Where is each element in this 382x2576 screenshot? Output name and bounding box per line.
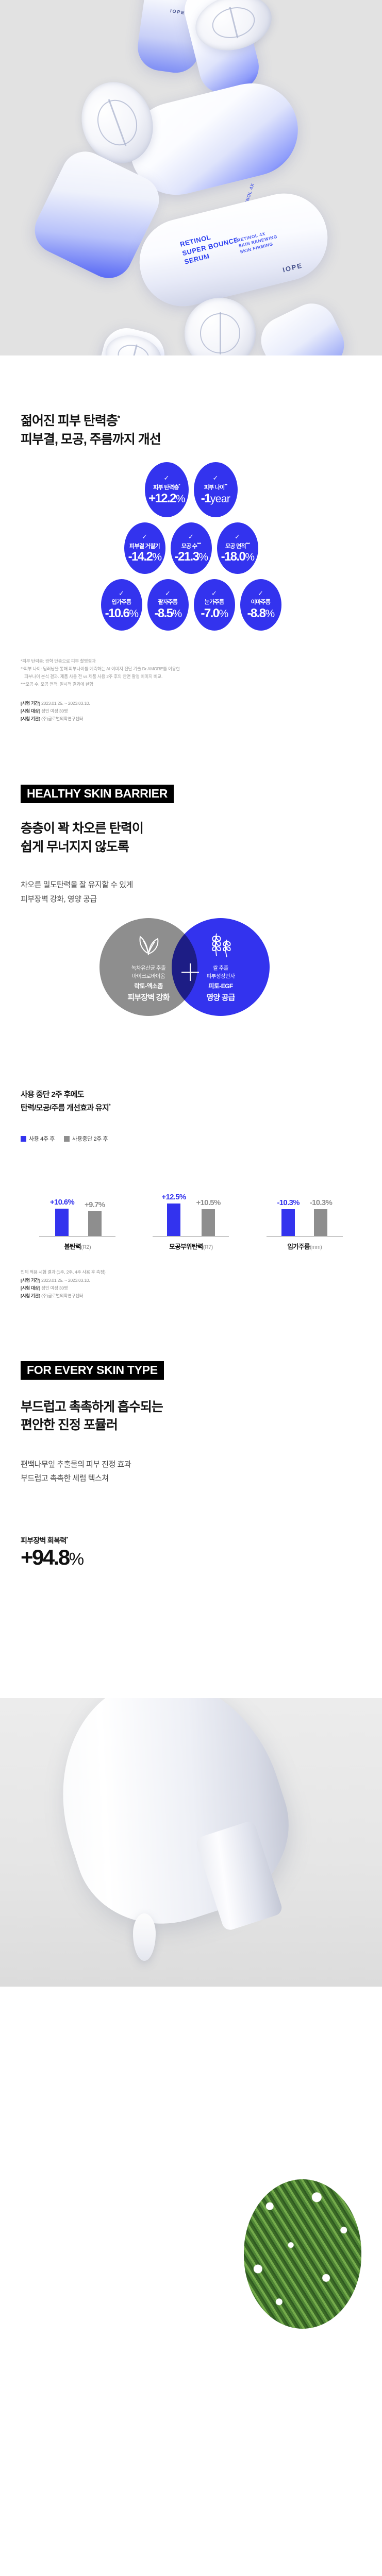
footnote-line: 피부나이 분석 결과. 제품 사용 전 vs 제품 사용 2주 후의 안면 촬영… bbox=[21, 673, 361, 681]
bar-item: +12.5% bbox=[161, 1159, 186, 1236]
bottle-bottom-right bbox=[253, 296, 352, 355]
stat-badge-label-text: 피부결 거칠기 bbox=[129, 543, 160, 549]
chart-headline-line1: 사용 중단 2주 후에도 bbox=[21, 1088, 361, 1101]
stat-badge: ✓ 피부 나이** -1year bbox=[194, 462, 238, 517]
hero-bottle-composition: IOPE RETINOL 4X RETINOL SUPER BOUNCE SER… bbox=[0, 0, 382, 355]
stat-badge-number: +12.2 bbox=[148, 492, 176, 505]
section-barrier: HEALTHY SKIN BARRIER 층층이 꽉 차오른 탄력이 쉽게 무너… bbox=[0, 785, 382, 907]
skintype-headline: 부드럽고 촉촉하게 흡수되는 편안한 진정 포뮬러 bbox=[21, 1398, 361, 1435]
check-icon: ✓ bbox=[211, 590, 217, 597]
stat-badge-value: -7.0% bbox=[201, 607, 227, 620]
stat-badge-label: 모공 면적*** bbox=[225, 543, 250, 550]
stat-badge-label: 팔자주름 bbox=[158, 599, 178, 605]
footnote-line: *피부 탄력층: 광학 단층으로 피부 촬영결과 bbox=[21, 657, 361, 665]
study-key: [시험 기관] bbox=[21, 716, 40, 721]
check-icon: ✓ bbox=[188, 533, 194, 540]
stat-badge-unit: % bbox=[129, 608, 138, 620]
skintype-section-tag: FOR EVERY SKIN TYPE bbox=[21, 1361, 164, 1380]
bar-rect bbox=[281, 1209, 295, 1236]
ingredient-venn-diagram: 녹차유산균 추출 마이크로바이옴 락토-엑소좀 피부장벽 강화 쌀 추출 bbox=[0, 918, 382, 1052]
stat-badge-unit: % bbox=[172, 608, 181, 620]
stat-badge-row-1: ✓ 피부 탄력층* +12.2% ✓ 피부 나이** -1year bbox=[0, 462, 382, 517]
elasticity-headline-line1: 젊어진 피부 탄력층 bbox=[21, 414, 118, 428]
skintype-subtext-line2: 부드럽고 촉촉한 세럼 텍스쳐 bbox=[21, 1471, 361, 1486]
stat-badge: ✓ 이마주름 -8.8% bbox=[240, 579, 281, 631]
chart-x-label: 모공부위탄력(R7) bbox=[169, 1241, 212, 1251]
stat-badge-row-3: ✓ 입가주름 -10.6% ✓ 팔자주름 -8.5% ✓ 눈가주름 -7.0% … bbox=[0, 579, 382, 631]
study-row: [시험 대상] 성인 여성 30명 bbox=[21, 707, 361, 715]
venn-circle-right: 쌀 추출 피부성장인자 피토-EGF 영양 공급 bbox=[172, 918, 270, 1016]
chart-legend: 사용 4주 후 사용중단 2주 후 bbox=[21, 1134, 361, 1143]
study-value: 성인 여성 30명 bbox=[41, 1285, 68, 1291]
skintype-subtext: 편백나무잎 추출물의 피부 진정 효과 부드럽고 촉촉한 세럼 텍스쳐 bbox=[21, 1458, 361, 1486]
stat-badge-unit: % bbox=[198, 551, 207, 563]
chart-axis-line bbox=[267, 1236, 343, 1236]
stat-badge-row-2: ✓ 피부결 거칠기 -14.2% ✓ 모공 수*** -21.3% ✓ 모공 면… bbox=[0, 522, 382, 574]
chart-group-bars: +10.6% +9.7% bbox=[50, 1159, 105, 1236]
study-row: [시험 기간] 2023.01.25. ~ 2023.03.10. bbox=[21, 1277, 361, 1284]
stat-badge-label-text: 피부 나이 bbox=[204, 485, 225, 491]
chart-section: 사용 중단 2주 후에도 탄력/모공/주름 개선효과 유지* 사용 4주 후 사… bbox=[0, 1088, 382, 1251]
study-key: [시험 기간] bbox=[21, 701, 40, 706]
check-icon: ✓ bbox=[235, 533, 240, 540]
elasticity-footnotes: *피부 탄력층: 광학 단층으로 피부 촬영결과 **피부 나이: 딥러닝을 통… bbox=[0, 657, 382, 688]
stat-badge-number: -8.5 bbox=[154, 606, 172, 620]
barrier-subtext-line2: 피부장벽 강화, 영양 공급 bbox=[21, 892, 361, 907]
stat-badge-label-sup: *** bbox=[197, 542, 201, 547]
stat-badge-value: -18.0% bbox=[221, 551, 254, 563]
stat-badge-unit: % bbox=[176, 493, 185, 505]
chart-group-bars: +12.5% +10.5% bbox=[161, 1159, 220, 1236]
stat-badge: ✓ 입가주름 -10.6% bbox=[101, 579, 142, 631]
bar-item: -10.3% bbox=[277, 1159, 299, 1236]
stat-badge-label: 피부 탄력층* bbox=[153, 484, 180, 491]
wheat-icon bbox=[204, 931, 237, 958]
stat-badge-label: 모공 수*** bbox=[181, 543, 201, 550]
stat-badge-group: ✓ 피부 탄력층* +12.2% ✓ 피부 나이** -1year ✓ 피부결 … bbox=[0, 449, 382, 631]
study-key: [시험 대상] bbox=[21, 708, 40, 714]
venn-right-category: 피부성장인자 bbox=[207, 973, 235, 981]
stat-badge: ✓ 모공 면적*** -18.0% bbox=[217, 522, 258, 574]
legend-swatch-series-2 bbox=[64, 1136, 70, 1142]
stat-badge-label: 눈가주름 bbox=[205, 599, 224, 605]
chart-axis-line bbox=[153, 1236, 229, 1236]
barrier-recovery-unit: % bbox=[69, 1549, 83, 1568]
product-detail-page: IOPE RETINOL 4X RETINOL SUPER BOUNCE SER… bbox=[0, 0, 382, 1987]
bar-item: +9.7% bbox=[85, 1159, 105, 1236]
stat-badge-number: -1 bbox=[201, 492, 210, 505]
venn-right-name: 피토-EGF bbox=[208, 981, 232, 990]
stat-badge-value: -14.2% bbox=[128, 551, 161, 563]
elasticity-headline-line2: 피부결, 모공, 주름까지 개선 bbox=[21, 432, 161, 447]
serum-texture-photo bbox=[0, 1698, 382, 1987]
study-row: [시험 기관] (주)글로벌의학연구센터 bbox=[21, 715, 361, 723]
stat-badge-label-text: 모공 면적 bbox=[225, 543, 246, 549]
barrier-recovery-label-text: 피부장벽 회복력 bbox=[21, 1536, 66, 1545]
venn-right-benefit: 영양 공급 bbox=[206, 992, 235, 1003]
stat-badge-value: -8.8% bbox=[247, 607, 274, 620]
serum-drop bbox=[133, 1913, 156, 1961]
bar-rect bbox=[202, 1209, 215, 1236]
stat-badge-number: -18.0 bbox=[221, 550, 245, 564]
skintype-headline-line1: 부드럽고 촉촉하게 흡수되는 bbox=[21, 1400, 163, 1414]
study-row: [시험 대상] 성인 여성 30명 bbox=[21, 1284, 361, 1292]
check-icon: ✓ bbox=[164, 474, 170, 481]
venn-left-benefit: 피부장벽 강화 bbox=[127, 992, 169, 1003]
venn-left-category: 마이크로바이옴 bbox=[132, 973, 165, 981]
stat-badge-unit: year bbox=[210, 493, 230, 505]
chart-x-label-unit: (R2) bbox=[81, 1244, 91, 1250]
check-icon: ✓ bbox=[142, 533, 147, 540]
stat-badge-value: +12.2% bbox=[148, 493, 185, 505]
check-icon: ✓ bbox=[119, 590, 124, 597]
stat-badge-unit: % bbox=[219, 608, 227, 620]
study-row: [시험 기간] 2023.01.25. ~ 2023.03.10. bbox=[21, 700, 361, 707]
stat-badge-label-sup: ** bbox=[225, 483, 227, 488]
barrier-recovery-value: +94.8% bbox=[21, 1546, 361, 1569]
bar-rect bbox=[167, 1204, 180, 1236]
chart-x-label-name: 볼탄력 bbox=[64, 1243, 81, 1250]
chart-x-label-unit: (mm) bbox=[310, 1244, 322, 1250]
bar-rect bbox=[55, 1209, 69, 1236]
stat-badge: ✓ 피부결 거칠기 -14.2% bbox=[124, 522, 165, 574]
study-value: 성인 여성 30명 bbox=[41, 708, 68, 714]
study-key: [시험 기관] bbox=[21, 1293, 40, 1298]
elasticity-headline-asterisk: * bbox=[118, 414, 120, 422]
bar-value-label: -10.3% bbox=[310, 1198, 332, 1207]
study-row: [시험 기관] (주)글로벌의학연구센터 bbox=[21, 1292, 361, 1300]
legend-swatch-series-1 bbox=[21, 1136, 26, 1142]
bar-value-label: -10.3% bbox=[277, 1198, 299, 1207]
barrier-headline: 층층이 꽉 차오른 탄력이 쉽게 무너지지 않도록 bbox=[21, 820, 361, 856]
check-icon: ✓ bbox=[213, 474, 219, 481]
skintype-subtext-line1: 편백나무잎 추출물의 피부 진정 효과 bbox=[21, 1458, 361, 1472]
study-value: 2023.01.25. ~ 2023.03.10. bbox=[41, 701, 90, 706]
barrier-headline-line1: 층층이 꽉 차오른 탄력이 bbox=[21, 821, 143, 836]
stat-badge-value: -8.5% bbox=[154, 607, 181, 620]
barrier-recovery-number: +94.8 bbox=[21, 1545, 69, 1569]
bar-value-label: +10.5% bbox=[196, 1198, 220, 1207]
stat-badge: ✓ 눈가주름 -7.0% bbox=[194, 579, 235, 631]
leaf-icon bbox=[132, 931, 165, 958]
venn-left-source: 녹차유산균 추출 bbox=[131, 964, 166, 973]
stat-badge-value: -1year bbox=[201, 493, 230, 505]
study-key: [시험 대상] bbox=[21, 1285, 40, 1291]
footnote-line: ***모공 수, 모공 면적: 일시적 결과에 한함 bbox=[21, 681, 361, 688]
elasticity-study-info: [시험 기간] 2023.01.25. ~ 2023.03.10. [시험 대상… bbox=[0, 700, 382, 723]
barrier-recovery-label-sup: * bbox=[66, 1536, 68, 1541]
stat-badge-number: -7.0 bbox=[201, 606, 219, 620]
stat-badge-number: -21.3 bbox=[175, 550, 199, 564]
stat-badge-number: -8.8 bbox=[247, 606, 265, 620]
stat-badge-value: -10.6% bbox=[105, 607, 138, 620]
stat-badge-label: 이마주름 bbox=[251, 599, 271, 605]
section-elasticity: 젊어진 피부 탄력층* 피부결, 모공, 주름까지 개선 bbox=[0, 412, 382, 449]
chart-x-label-name: 입가주름 bbox=[287, 1243, 310, 1250]
stat-badge-unit: % bbox=[265, 608, 274, 620]
check-icon: ✓ bbox=[165, 590, 171, 597]
stat-badge-number: -10.6 bbox=[105, 606, 129, 620]
chart-headline-line2-wrap: 탄력/모공/주름 개선효과 유지* bbox=[21, 1101, 361, 1115]
venn-right-source: 쌀 추출 bbox=[213, 964, 228, 973]
study-value: 2023.01.25. ~ 2023.03.10. bbox=[41, 1278, 90, 1283]
chart-x-label: 볼탄력(R2) bbox=[64, 1241, 91, 1251]
chart-study-info: 인체 적용 시험 결과 (1주, 2주, 4주 사용 후 측정) [시험 기간]… bbox=[0, 1268, 382, 1300]
section-skintype: FOR EVERY SKIN TYPE 부드럽고 촉촉하게 흡수되는 편안한 진… bbox=[0, 1361, 382, 1570]
stat-badge-label-text: 피부 탄력층 bbox=[153, 485, 178, 491]
barrier-subtext: 차오른 밀도탄력을 잘 유지할 수 있게 피부장벽 강화, 영양 공급 bbox=[21, 878, 361, 907]
check-icon: ✓ bbox=[258, 590, 263, 597]
stat-badge: ✓ 피부 탄력층* +12.2% bbox=[145, 462, 189, 517]
barrier-subtext-line1: 차오른 밀도탄력을 잘 유지할 수 있게 bbox=[21, 878, 361, 892]
stat-badge-unit: % bbox=[152, 551, 161, 563]
bar-value-label: +12.5% bbox=[161, 1193, 186, 1201]
stat-badge: ✓ 팔자주름 -8.5% bbox=[147, 579, 189, 631]
stat-badge-label: 피부결 거칠기 bbox=[129, 543, 160, 550]
legend-label-series-1: 사용 4주 후 bbox=[29, 1134, 55, 1143]
chart-footnote-top: 인체 적용 시험 결과 (1주, 2주, 4주 사용 후 측정) bbox=[21, 1268, 361, 1276]
legend-item: 사용 4주 후 bbox=[21, 1134, 55, 1143]
chart-axis-line bbox=[39, 1236, 115, 1236]
stat-badge-value: -21.3% bbox=[175, 551, 208, 563]
bar-item: +10.5% bbox=[196, 1159, 220, 1236]
legend-label-series-2: 사용중단 2주 후 bbox=[72, 1134, 108, 1143]
bar-value-label: +9.7% bbox=[85, 1200, 105, 1209]
stat-badge-number: -14.2 bbox=[128, 550, 153, 564]
hero-product-image: IOPE RETINOL 4X RETINOL SUPER BOUNCE SER… bbox=[0, 0, 382, 355]
chart-group: +12.5% +10.5% 모공부위탄력(R7) bbox=[134, 1159, 247, 1251]
study-value: (주)글로벌의학연구센터 bbox=[41, 1293, 83, 1298]
bar-rect bbox=[88, 1211, 102, 1236]
barrier-recovery-stat: 피부장벽 회복력* +94.8% bbox=[21, 1535, 361, 1569]
chart-headline: 사용 중단 2주 후에도 탄력/모공/주름 개선효과 유지* bbox=[21, 1088, 361, 1115]
stat-badge: ✓ 모공 수*** -21.3% bbox=[171, 522, 212, 574]
legend-item: 사용중단 2주 후 bbox=[64, 1134, 108, 1143]
bar-chart: +10.6% +9.7% 볼탄력(R2) +12.5% bbox=[21, 1153, 361, 1251]
barrier-recovery-label: 피부장벽 회복력* bbox=[21, 1535, 361, 1546]
chart-headline-line2: 탄력/모공/주름 개선효과 유지 bbox=[21, 1104, 109, 1112]
chart-headline-asterisk: * bbox=[109, 1103, 110, 1108]
cypress-leaf-photo bbox=[244, 2179, 361, 2329]
stat-badge-label: 입가주름 bbox=[112, 599, 131, 605]
chart-x-label: 입가주름(mm) bbox=[287, 1241, 322, 1251]
skintype-headline-line2: 편안한 진정 포뮬러 bbox=[21, 1418, 118, 1432]
chart-group: +10.6% +9.7% 볼탄력(R2) bbox=[21, 1159, 134, 1251]
stat-badge-label: 피부 나이** bbox=[204, 484, 227, 491]
study-key: [시험 기간] bbox=[21, 1278, 40, 1283]
venn-left-name: 락토-엑소좀 bbox=[134, 981, 163, 990]
barrier-headline-line2: 쉽게 무너지지 않도록 bbox=[21, 840, 129, 854]
cap-bottom bbox=[185, 298, 256, 355]
chart-group: -10.3% -10.3% 입가주름(mm) bbox=[248, 1159, 361, 1251]
chart-group-bars: -10.3% -10.3% bbox=[277, 1159, 332, 1236]
chart-x-label-name: 모공부위탄력 bbox=[169, 1243, 203, 1250]
elasticity-headline: 젊어진 피부 탄력층* 피부결, 모공, 주름까지 개선 bbox=[21, 412, 361, 449]
stat-badge-label-sup: * bbox=[179, 483, 180, 488]
bar-item: +10.6% bbox=[50, 1159, 74, 1236]
stat-badge-label-text: 모공 수 bbox=[181, 543, 197, 549]
footnote-line: **피부 나이: 딥러닝을 통해 피부나이를 예측하는 AI 이미지 진단 기술… bbox=[21, 665, 361, 673]
barrier-section-tag: HEALTHY SKIN BARRIER bbox=[21, 785, 174, 803]
bar-rect bbox=[314, 1209, 327, 1236]
stat-badge-unit: % bbox=[245, 551, 254, 563]
study-value: (주)글로벌의학연구센터 bbox=[41, 716, 83, 721]
bar-item: -10.3% bbox=[310, 1159, 332, 1236]
stat-badge-label-sup: *** bbox=[246, 542, 250, 547]
bar-value-label: +10.6% bbox=[50, 1198, 74, 1207]
chart-x-label-unit: (R7) bbox=[203, 1244, 213, 1250]
